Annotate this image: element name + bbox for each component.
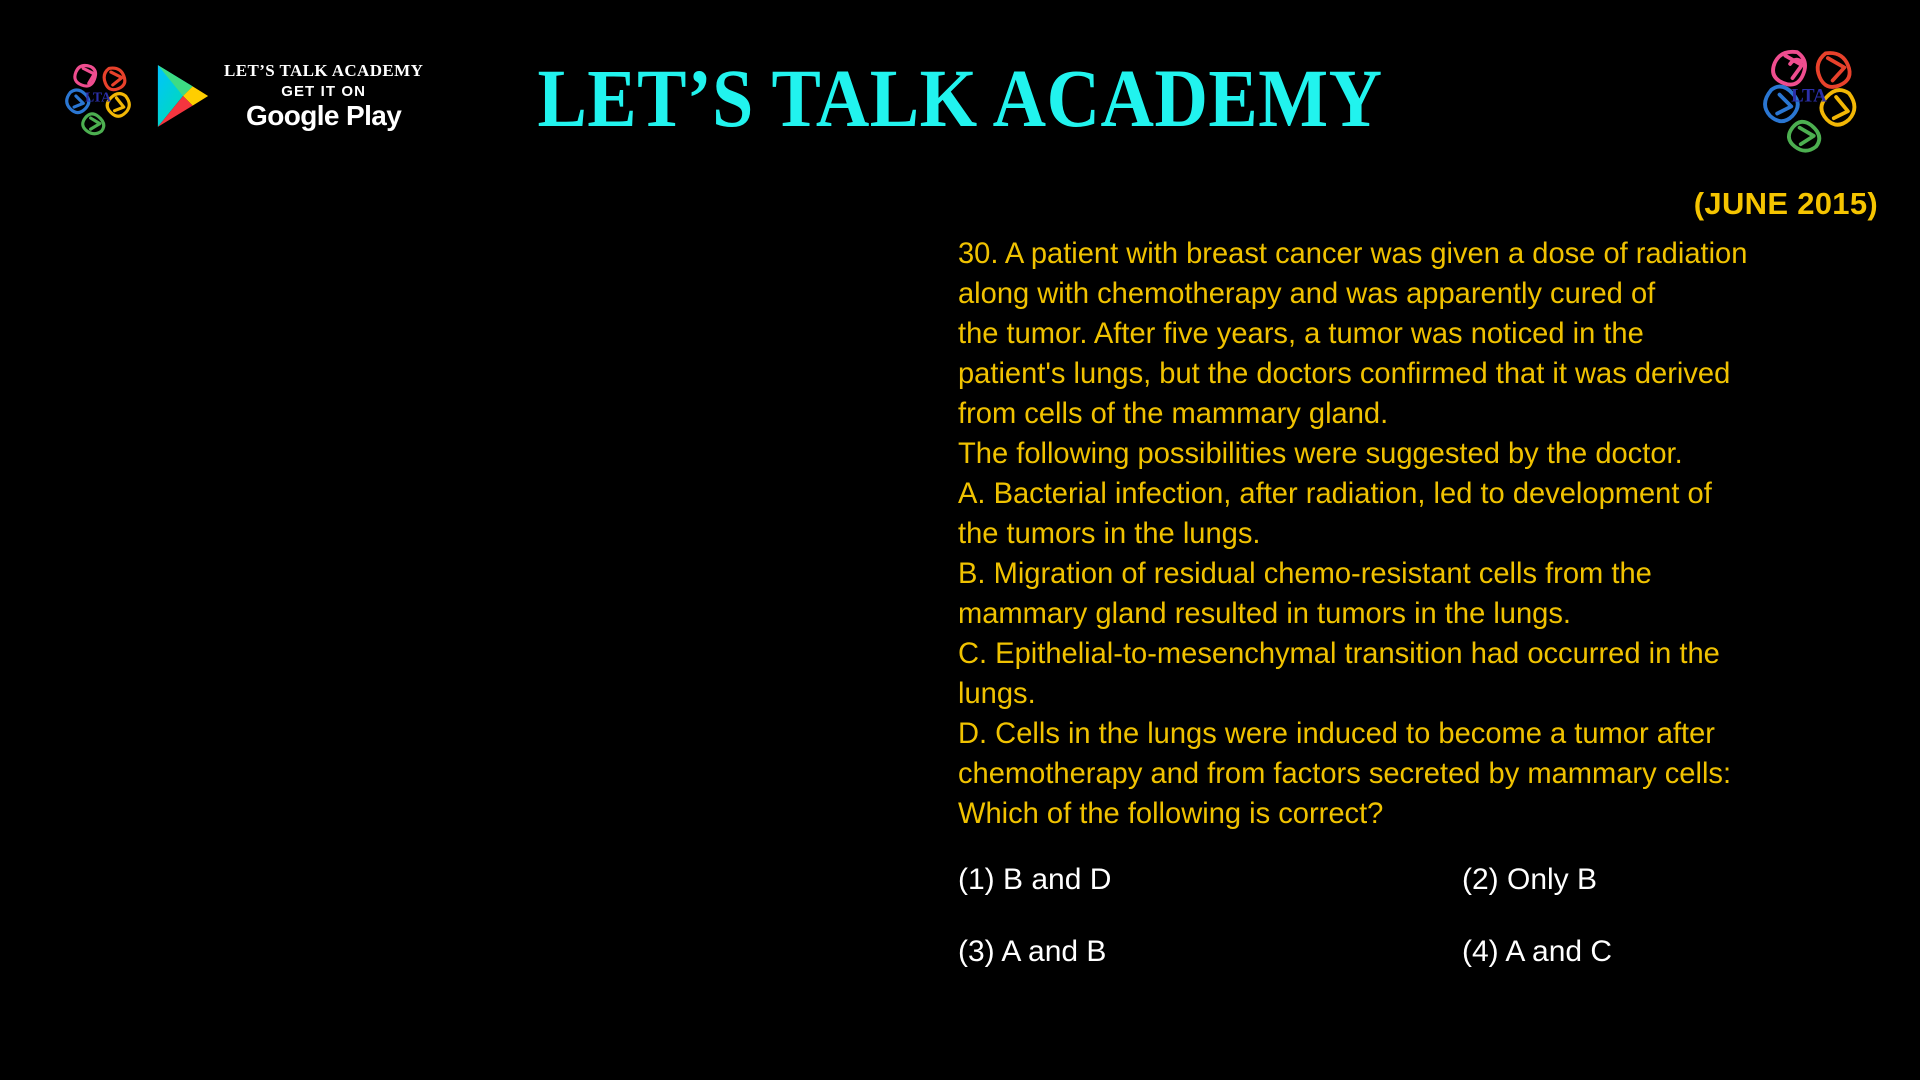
- question-line: from cells of the mammary gland.: [958, 394, 1860, 434]
- question-line: C. Epithelial-to-mesenchymal transition …: [958, 634, 1860, 674]
- answer-options: (1) B and D (2) Only B (3) A and B (4) A…: [958, 862, 1888, 1006]
- question-line: mammary gland resulted in tumors in the …: [958, 594, 1860, 634]
- slide-canvas: LTA LET’S TALK ACADEMY GET IT ON Google …: [0, 0, 1920, 1080]
- question-line: The following possibilities were suggest…: [958, 434, 1860, 474]
- question-line: patient's lungs, but the doctors confirm…: [958, 354, 1860, 394]
- question-line: 30. A patient with breast cancer was giv…: [958, 234, 1860, 274]
- slide-header: LTA LET’S TALK ACADEMY GET IT ON Google …: [0, 0, 1920, 180]
- question-line: Which of the following is correct?: [958, 794, 1860, 834]
- question-line: the tumors in the lungs.: [958, 514, 1860, 554]
- question-line: along with chemotherapy and was apparent…: [958, 274, 1860, 314]
- question-line: chemotherapy and from factors secreted b…: [958, 754, 1860, 794]
- lta-protein-ribbon-logo-icon: LTA: [1750, 38, 1868, 156]
- option-2[interactable]: (2) Only B: [1462, 862, 1888, 934]
- logo-center-text: LTA: [1791, 86, 1827, 107]
- question-line: A. Bacterial infection, after radiation,…: [958, 474, 1860, 514]
- question-line: B. Migration of residual chemo-resistant…: [958, 554, 1860, 594]
- question-line: lungs.: [958, 674, 1860, 714]
- question-line: D. Cells in the lungs were induced to be…: [958, 714, 1860, 754]
- option-row: (3) A and B (4) A and C: [958, 934, 1888, 1006]
- question-text-block: 30. A patient with breast cancer was giv…: [958, 234, 1888, 834]
- option-3[interactable]: (3) A and B: [958, 934, 1462, 1006]
- question-line: the tumor. After five years, a tumor was…: [958, 314, 1860, 354]
- option-row: (1) B and D (2) Only B: [958, 862, 1888, 934]
- option-4[interactable]: (4) A and C: [1462, 934, 1888, 1006]
- exam-date-label: (JUNE 2015): [1694, 186, 1878, 222]
- page-title: LET’S TALK ACADEMY: [0, 52, 1920, 147]
- option-1[interactable]: (1) B and D: [958, 862, 1462, 934]
